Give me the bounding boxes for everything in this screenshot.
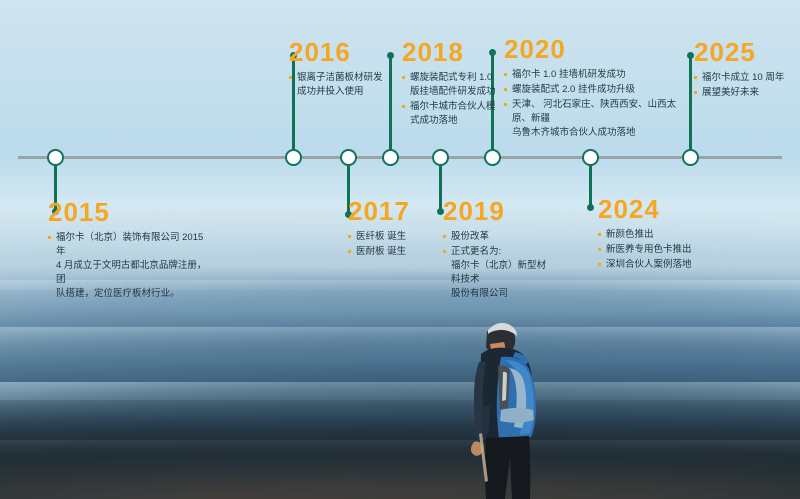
timeline-bullet-item: 正式更名为: 福尔卡（北京）新型材料技术 股份有限公司 bbox=[443, 245, 553, 301]
timeline-bullet-item: 福尔卡城市合伙人模 式成功落地 bbox=[402, 100, 502, 128]
timeline-bullet-item: 天津、 河北石家庄、陕西西安、山西太原、新疆 乌鲁木齐城市合伙人成功落地 bbox=[504, 98, 689, 140]
timeline-bullet-item: 福尔卡 1.0 挂墙机研发成功 bbox=[504, 68, 689, 82]
timeline-event-2019[interactable]: 2019股份改革正式更名为: 福尔卡（北京）新型材料技术 股份有限公司 bbox=[443, 197, 553, 302]
timeline-node-2018[interactable] bbox=[382, 149, 399, 166]
timeline-bullet-item: 新医养专用色卡推出 bbox=[598, 243, 723, 257]
timeline-node-2025[interactable] bbox=[682, 149, 699, 166]
timeline-year-label-2019: 2019 bbox=[443, 197, 553, 225]
timeline-node-2017[interactable] bbox=[340, 149, 357, 166]
timeline-node-2016[interactable] bbox=[285, 149, 302, 166]
timeline-bullet-list-2025: 福尔卡成立 10 周年展望美好未来 bbox=[694, 71, 799, 100]
timeline-year-label-2018: 2018 bbox=[402, 38, 502, 66]
timeline-bullet-list-2017: 医纤板 诞生医耐板 诞生 bbox=[348, 230, 438, 259]
timeline-bullet-item: 银离子洁菌板材研发 成功并投入使用 bbox=[289, 71, 389, 99]
timeline-node-2020[interactable] bbox=[484, 149, 501, 166]
timeline-stem-dot-2024 bbox=[587, 204, 594, 211]
timeline-stem-2025 bbox=[689, 55, 692, 156]
timeline-bullet-item: 展望美好未来 bbox=[694, 86, 799, 100]
timeline-year-label-2020: 2020 bbox=[504, 35, 689, 63]
timeline-year-label-2016: 2016 bbox=[289, 38, 389, 66]
hiker-figure bbox=[443, 310, 553, 499]
timeline-node-2015[interactable] bbox=[47, 149, 64, 166]
timeline-year-label-2017: 2017 bbox=[348, 197, 438, 225]
timeline-bullet-list-2019: 股份改革正式更名为: 福尔卡（北京）新型材料技术 股份有限公司 bbox=[443, 230, 553, 301]
timeline-year-label-2015: 2015 bbox=[48, 198, 213, 226]
timeline-bullet-item: 新颜色推出 bbox=[598, 228, 723, 242]
timeline-event-2018[interactable]: 2018螺旋装配式专利 1.0 版挂墙配件研发成功福尔卡城市合伙人模 式成功落地 bbox=[402, 38, 502, 129]
timeline-event-2015[interactable]: 2015福尔卡（北京）装饰有限公司 2015 年 4 月成立于文明古都北京品牌注… bbox=[48, 198, 213, 302]
timeline-event-2016[interactable]: 2016银离子洁菌板材研发 成功并投入使用 bbox=[289, 38, 389, 100]
timeline-event-2020[interactable]: 2020福尔卡 1.0 挂墙机研发成功螺旋装配式 2.0 挂件成功升级天津、 河… bbox=[504, 35, 689, 141]
timeline-bullet-item: 医耐板 诞生 bbox=[348, 245, 438, 259]
timeline-node-2024[interactable] bbox=[582, 149, 599, 166]
timeline-year-label-2024: 2024 bbox=[598, 195, 723, 223]
timeline-node-2019[interactable] bbox=[432, 149, 449, 166]
timeline-bullet-item: 深圳合伙人案例落地 bbox=[598, 258, 723, 272]
timeline-bullet-item: 福尔卡成立 10 周年 bbox=[694, 71, 799, 85]
timeline-bullet-list-2018: 螺旋装配式专利 1.0 版挂墙配件研发成功福尔卡城市合伙人模 式成功落地 bbox=[402, 71, 502, 128]
timeline-bullet-list-2016: 银离子洁菌板材研发 成功并投入使用 bbox=[289, 71, 389, 99]
timeline-stem-2018 bbox=[389, 55, 392, 156]
valley-warm-light bbox=[0, 425, 800, 499]
timeline-event-2017[interactable]: 2017医纤板 诞生医耐板 诞生 bbox=[348, 197, 438, 260]
timeline-year-label-2025: 2025 bbox=[694, 38, 799, 66]
timeline-bullet-list-2020: 福尔卡 1.0 挂墙机研发成功螺旋装配式 2.0 挂件成功升级天津、 河北石家庄… bbox=[504, 68, 689, 140]
timeline-bullet-list-2024: 新颜色推出新医养专用色卡推出深圳合伙人案例落地 bbox=[598, 228, 723, 272]
timeline-event-2024[interactable]: 2024新颜色推出新医养专用色卡推出深圳合伙人案例落地 bbox=[598, 195, 723, 273]
timeline-axis bbox=[18, 156, 782, 159]
timeline-bullet-item: 医纤板 诞生 bbox=[348, 230, 438, 244]
timeline-bullet-item: 股份改革 bbox=[443, 230, 553, 244]
timeline-bullet-item: 螺旋装配式 2.0 挂件成功升级 bbox=[504, 83, 689, 97]
timeline-event-2025[interactable]: 2025福尔卡成立 10 周年展望美好未来 bbox=[694, 38, 799, 101]
timeline-bullet-list-2015: 福尔卡（北京）装饰有限公司 2015 年 4 月成立于文明古都北京品牌注册，团 … bbox=[48, 231, 213, 301]
timeline-bullet-item: 福尔卡（北京）装饰有限公司 2015 年 4 月成立于文明古都北京品牌注册，团 … bbox=[48, 231, 213, 301]
timeline-infographic: 2015福尔卡（北京）装饰有限公司 2015 年 4 月成立于文明古都北京品牌注… bbox=[0, 0, 800, 499]
timeline-bullet-item: 螺旋装配式专利 1.0 版挂墙配件研发成功 bbox=[402, 71, 502, 99]
